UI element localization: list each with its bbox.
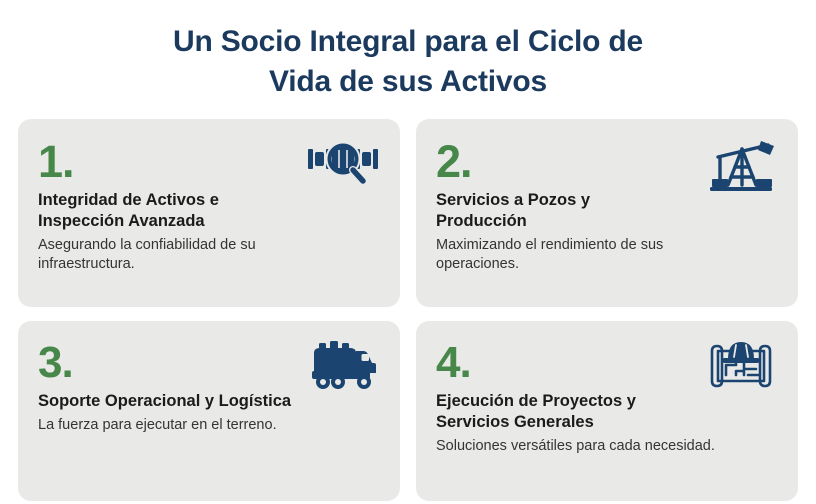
service-card-grid: 1. Integridad de Activos e Inspección Av…: [18, 119, 798, 501]
oil-pumpjack-icon: [704, 137, 778, 197]
card-title: Servicios a Pozos y Producción: [436, 190, 726, 232]
card-title: Integridad de Activos e Inspección Avanz…: [38, 190, 328, 232]
infographic-page: Un Socio Integral para el Ciclo de Vida …: [0, 0, 816, 504]
card-title: Ejecución de Proyectos y Servicios Gener…: [436, 391, 726, 433]
pipeline-inspection-icon: [306, 137, 380, 197]
service-card-3[interactable]: 3. Soporte Operacional y Logística La fu…: [18, 321, 400, 501]
service-card-1[interactable]: 1. Integridad de Activos e Inspección Av…: [18, 119, 400, 307]
service-card-2[interactable]: 2. Servicios a Pozos y Producción Maximi…: [416, 119, 798, 307]
card-title: Soporte Operacional y Logística: [38, 391, 328, 412]
card-subtitle: La fuerza para ejecutar en el terreno.: [38, 416, 338, 435]
tanker-truck-icon: [306, 337, 380, 397]
page-title-line-2: Vida de sus Activos: [58, 62, 758, 102]
page-title: Un Socio Integral para el Ciclo de Vida …: [58, 22, 758, 101]
card-subtitle: Soluciones versátiles para cada necesida…: [436, 437, 736, 456]
blueprint-hardhat-icon: [704, 337, 778, 397]
page-title-line-1: Un Socio Integral para el Ciclo de: [58, 22, 758, 62]
service-card-4[interactable]: 4. Ejecución de Proyectos y Servicios Ge…: [416, 321, 798, 501]
card-subtitle: Maximizando el rendimiento de sus operac…: [436, 236, 736, 274]
card-subtitle: Asegurando la confiabilidad de su infrae…: [38, 236, 338, 274]
